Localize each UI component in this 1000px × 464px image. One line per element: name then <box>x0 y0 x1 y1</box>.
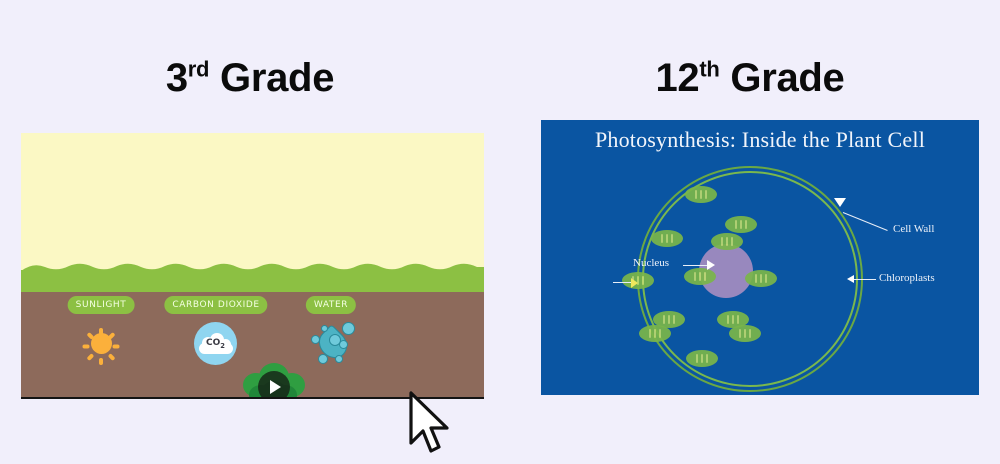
chloroplast <box>729 325 761 342</box>
sun-ray <box>113 345 120 349</box>
chloroplast <box>684 268 716 285</box>
grass-layer <box>21 270 484 292</box>
page-title-right: 12th Grade <box>500 56 1000 101</box>
annotation-chloroplasts: Chloroplasts <box>879 272 935 284</box>
chloroplast <box>651 230 683 247</box>
sun-ray <box>87 353 95 361</box>
diagram-title: Photosynthesis: Inside the Plant Cell <box>541 127 979 153</box>
grade-number-left: 3 <box>166 56 188 100</box>
play-triangle-icon <box>270 380 281 394</box>
play-button[interactable] <box>258 371 290 399</box>
sun-icon <box>83 325 119 361</box>
annotation-nucleus: Nucleus <box>633 257 669 269</box>
sun-ray <box>99 358 103 365</box>
grade-ordinal-left: rd <box>188 57 209 82</box>
water-bubble <box>318 354 328 364</box>
grade-word-right: Grade <box>730 56 844 100</box>
co2-formula-text: CO2 <box>199 338 233 350</box>
sun-ray <box>83 345 90 349</box>
grade-word-left: Grade <box>220 56 334 100</box>
third-grade-illustration-panel[interactable]: SUNLIGHT CARBON DIOXIDE WATER CO2 <box>21 133 484 399</box>
chloroplast <box>745 270 777 287</box>
chloroplast <box>725 216 757 233</box>
chloroplasts-leader-line <box>854 279 876 280</box>
label-badge-carbon-dioxide: CARBON DIOXIDE <box>164 296 267 314</box>
nucleus-leader-line <box>683 265 709 266</box>
chloroplast <box>686 350 718 367</box>
chloroplast <box>711 233 743 250</box>
mouse-pointer-cursor <box>405 391 455 457</box>
water-bubble <box>342 322 355 335</box>
annotation-cell-wall: Cell Wall <box>893 223 934 235</box>
page-title-left: 3rd Grade <box>0 56 500 101</box>
sun-ray <box>108 332 116 340</box>
cell-wall-arrow-icon <box>834 198 846 207</box>
label-badge-sunlight: SUNLIGHT <box>68 296 135 314</box>
twelfth-grade-diagram-panel[interactable]: Photosynthesis: Inside the Plant Cell Ce… <box>541 120 979 395</box>
nucleus-secondary-leader <box>613 282 633 283</box>
chloroplast <box>685 186 717 203</box>
chloroplast <box>622 272 654 289</box>
chloroplasts-arrow-icon <box>847 275 854 283</box>
sun-ray <box>108 353 116 361</box>
grade-ordinal-right: th <box>699 57 719 82</box>
grade-number-right: 12 <box>655 56 699 100</box>
nucleus-secondary-arrow-icon <box>631 278 638 288</box>
water-icon <box>309 321 357 371</box>
sun-ray <box>99 328 103 335</box>
water-bubble <box>311 335 320 344</box>
water-bubble <box>321 325 328 332</box>
nucleus-arrow-icon <box>707 260 715 270</box>
carbon-dioxide-icon: CO2 <box>194 322 237 365</box>
water-bubble <box>329 334 341 346</box>
cloud-shape: CO2 <box>199 334 233 354</box>
tree-illustration <box>233 361 315 399</box>
water-bubble <box>335 355 343 363</box>
chloroplast <box>639 325 671 342</box>
label-badge-water: WATER <box>306 296 356 314</box>
